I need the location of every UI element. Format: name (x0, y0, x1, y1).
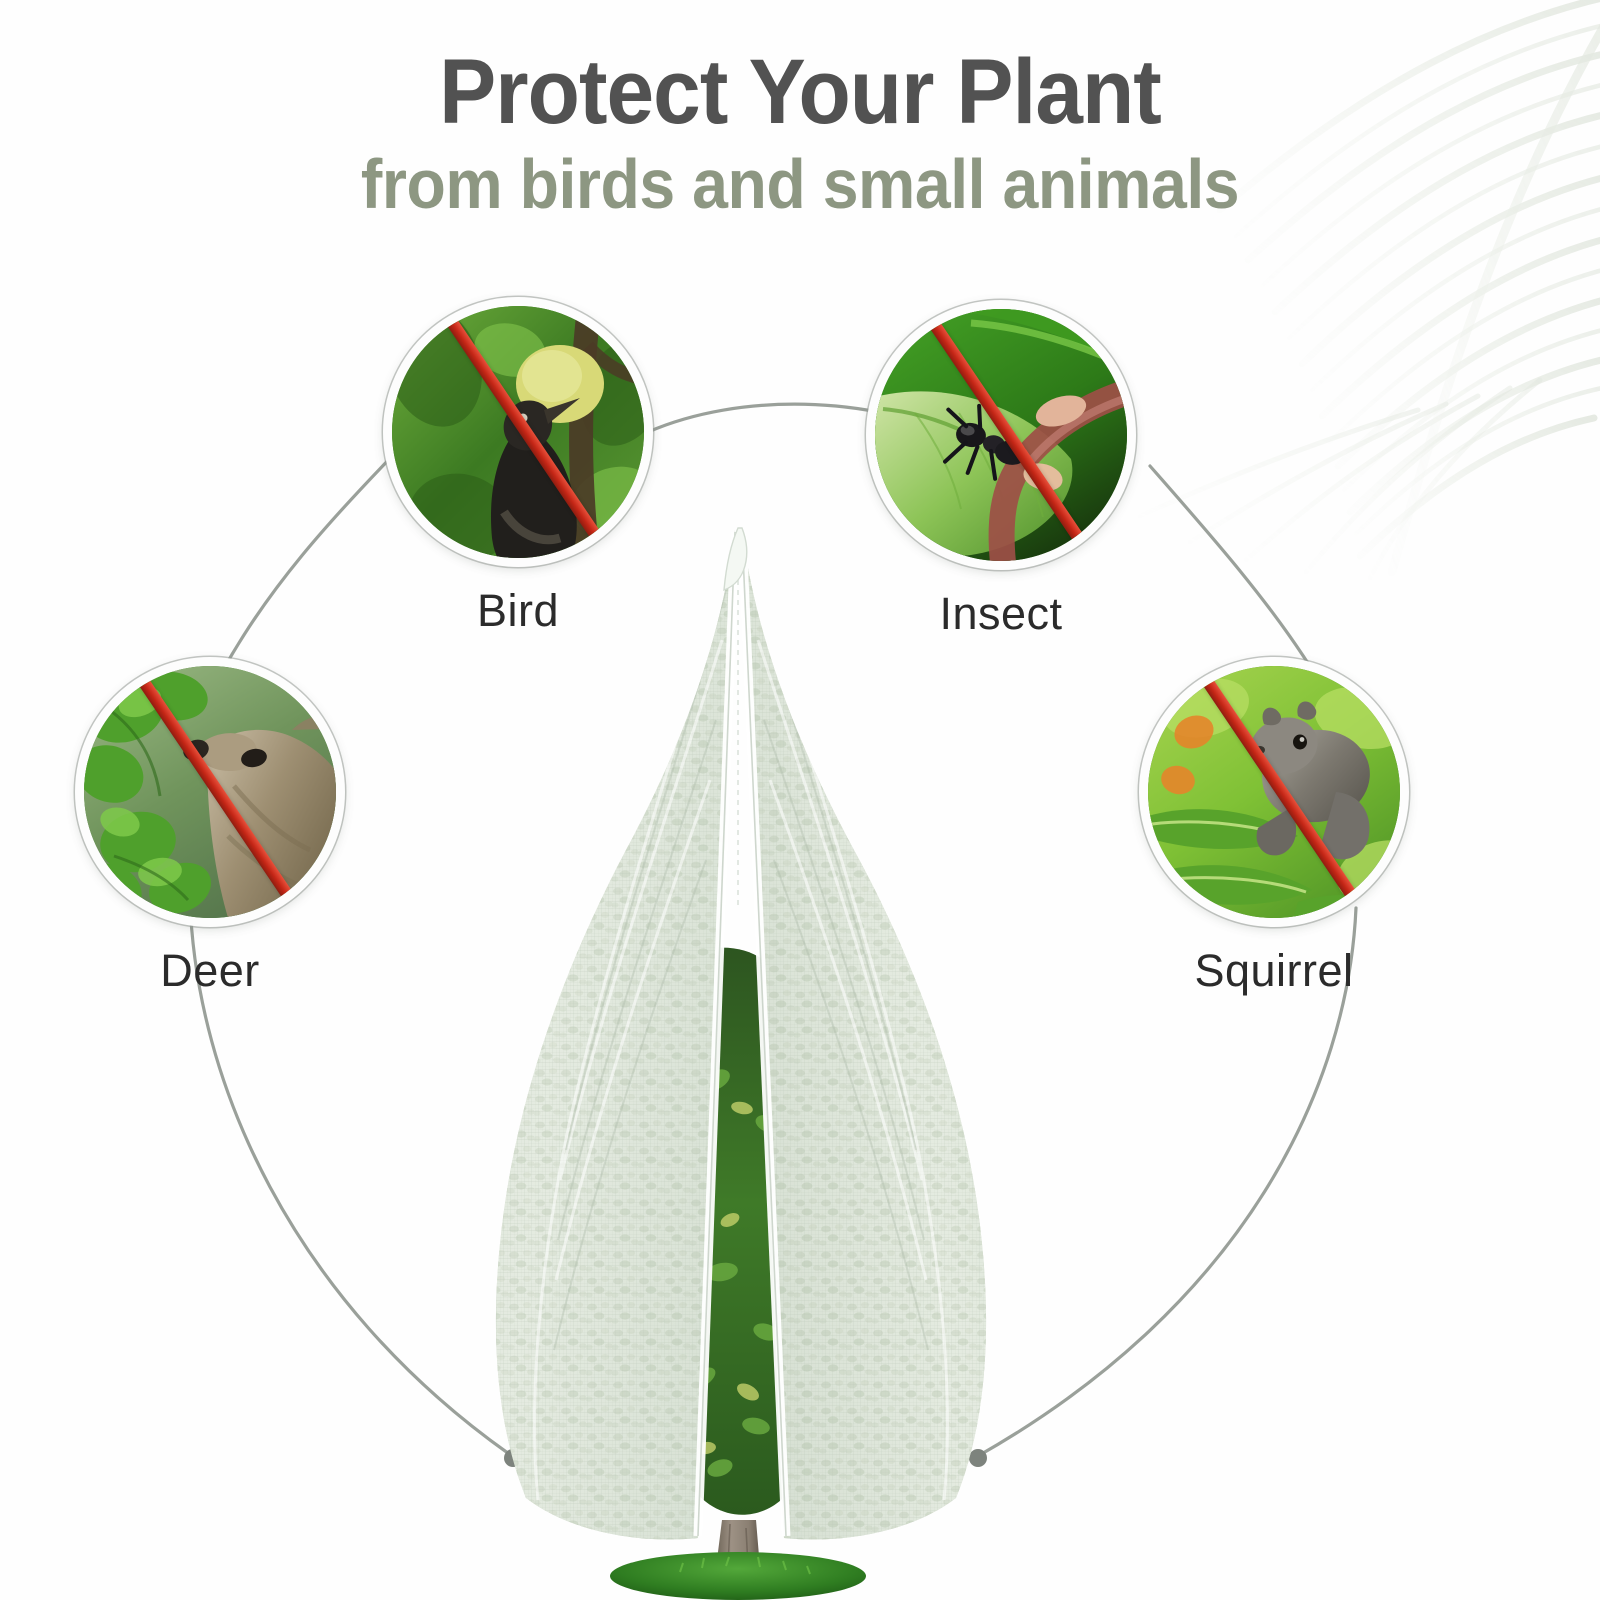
bird-photo-circle[interactable] (383, 297, 653, 567)
feature-insect[interactable]: Insect (866, 300, 1136, 640)
poster-canvas: Protect Your Plant from birds and small … (0, 0, 1600, 1600)
feature-deer[interactable]: Deer (75, 657, 345, 997)
page-subtitle: from birds and small animals (64, 144, 1536, 225)
page-title: Protect Your Plant (56, 46, 1544, 140)
grass-base (610, 1552, 866, 1600)
feature-label-deer: Deer (75, 945, 345, 997)
plant-protection-bag-product (430, 520, 1050, 1600)
insect-photo-circle[interactable] (866, 300, 1136, 570)
feature-label-insect: Insect (866, 588, 1136, 640)
connector-bird-deer (222, 448, 400, 672)
feature-bird[interactable]: Bird (383, 297, 653, 637)
connector-insect-squirrel (1150, 466, 1316, 676)
feature-squirrel[interactable]: Squirrel (1139, 657, 1409, 997)
squirrel-photo-circle[interactable] (1139, 657, 1409, 927)
header-block: Protect Your Plant from birds and small … (0, 46, 1600, 224)
feature-label-squirrel: Squirrel (1139, 945, 1409, 997)
feature-label-bird: Bird (383, 585, 653, 637)
deer-photo-circle[interactable] (75, 657, 345, 927)
